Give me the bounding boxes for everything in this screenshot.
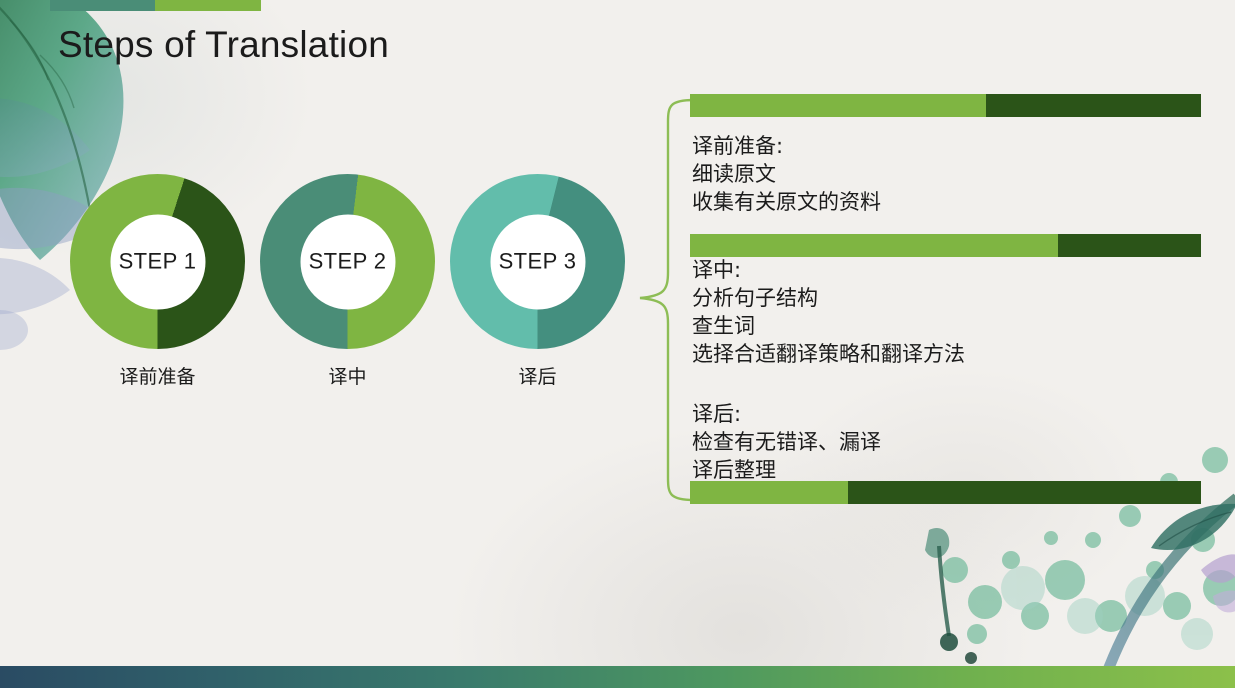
progress-bar-3-light	[690, 481, 848, 504]
progress-bar-2	[690, 234, 1201, 257]
progress-bar-1-dark	[986, 94, 1201, 117]
step-caption-1: 译前准备	[70, 362, 245, 389]
watercolor-splatter-decoration-bottomright	[915, 420, 1235, 680]
progress-bar-3-dark	[848, 481, 1201, 504]
bracket-connector	[638, 96, 696, 506]
progress-bar-2-light	[690, 234, 1058, 257]
progress-bar-3	[690, 481, 1201, 504]
progress-bar-2-dark	[1058, 234, 1201, 257]
topbar-green-segment	[155, 0, 261, 11]
step-donut-3-center: STEP 3	[490, 214, 585, 309]
block-text-3: 译后: 检查有无错译、漏译 译后整理	[692, 400, 881, 484]
step-donut-1[interactable]: STEP 1	[70, 174, 245, 349]
bottom-gradient-bar	[0, 666, 1235, 688]
step-donut-3-label: STEP 3	[499, 249, 577, 275]
step-donut-1-center: STEP 1	[110, 214, 205, 309]
step-donut-2[interactable]: STEP 2	[260, 174, 435, 349]
step-donut-1-label: STEP 1	[119, 249, 197, 275]
progress-bar-1-light	[690, 94, 986, 117]
step-caption-2: 译中	[260, 362, 435, 389]
step-donut-3[interactable]: STEP 3	[450, 174, 625, 349]
progress-bar-1	[690, 94, 1201, 117]
step-donut-2-center: STEP 2	[300, 214, 395, 309]
page-title: Steps of Translation	[58, 24, 389, 66]
step-caption-3: 译后	[450, 362, 625, 389]
slide-canvas: Steps of Translation STEP 1 译前准备 STEP 2 …	[0, 0, 1235, 688]
block-text-1: 译前准备: 细读原文 收集有关原文的资料	[692, 132, 881, 216]
step-donut-2-label: STEP 2	[309, 249, 387, 275]
block-text-2: 译中: 分析句子结构 查生词 选择合适翻译策略和翻译方法	[692, 256, 965, 368]
topbar-teal-segment	[50, 0, 155, 11]
